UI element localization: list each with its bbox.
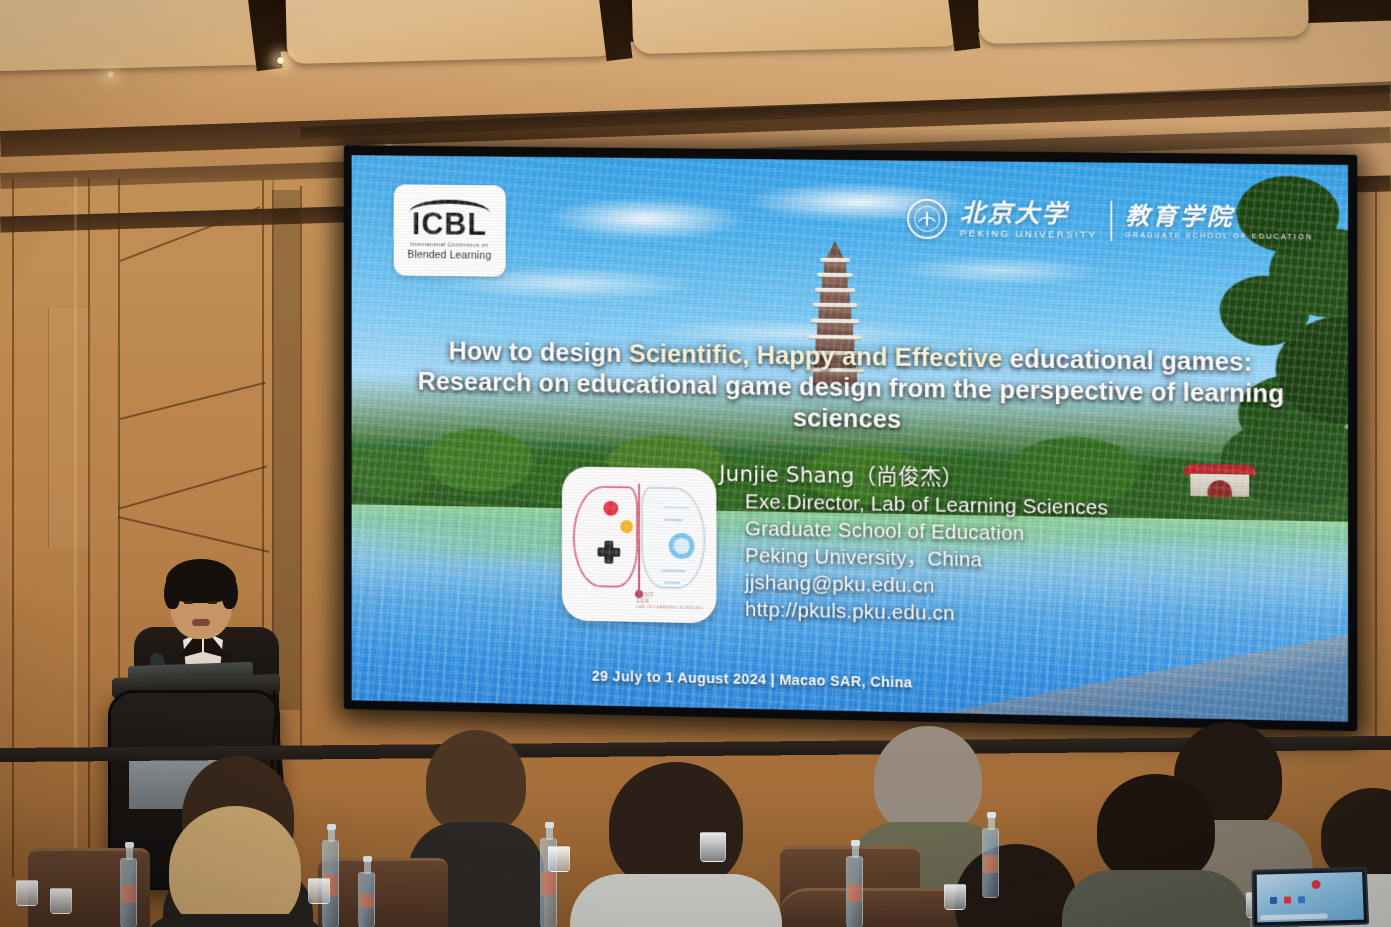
drinking-glass [50,888,72,914]
icbl-acronym: ICBL [412,208,487,240]
audience-person [1086,774,1226,927]
gse-wordmark: 教育学院 GRADUATE SCHOOL OF EDUCATION [1125,204,1313,241]
ceiling-light-icon [276,56,285,65]
red-pavilion [1184,463,1257,498]
audience-person [160,806,310,927]
audience-laptop [1252,867,1369,927]
icbl-subtitle-top: International Conference on [410,242,489,249]
brain-divider-icon [638,483,640,594]
water-bottle [120,858,137,927]
brain-left-half-icon [573,485,638,587]
peking-university-logo-block: 北京大学 PEKING UNIVERSITY 教育学院 GRADUATE SCH… [907,186,1314,257]
pku-wordmark: 北京大学 PEKING UNIVERSITY [960,200,1097,241]
presenter-info-block: Junjie Shang（尚俊杰） Exe.Director, Lab of L… [731,461,1108,630]
speaker-mouth [192,619,210,626]
gse-name-cn: 教育学院 [1125,204,1313,230]
pku-name-en: PEKING UNIVERSITY [960,228,1097,241]
drinking-glass [548,846,570,872]
pku-name-cn: 北京大学 [960,200,1097,227]
drinking-glass [944,884,966,910]
presentation-screen: ICBL International Conference on Blended… [344,145,1357,731]
drinking-glass [16,880,38,906]
water-bottle [982,828,999,898]
dpad-gamepad-icon [598,541,621,564]
water-bottle [358,872,375,927]
icbl-subtitle-bottom: Blended Learning [407,249,491,262]
water-bottle [846,856,863,927]
gse-name-en: GRADUATE SCHOOL OF EDUCATION [1125,232,1313,241]
audience-person [600,762,752,927]
pku-seal-icon [907,199,947,240]
drinking-glass [308,878,330,904]
conference-hall-photo: ICBL International Conference on Blended… [0,0,1391,927]
gear-teeth-icon [669,533,695,559]
lab-logo-caption: 学习科学 实验室 LAB OF LEARNING SCIENCES [636,592,703,612]
ceiling-light-icon [106,70,115,79]
speaker-hair-right [222,575,238,609]
slide-content: ICBL International Conference on Blended… [352,155,1348,722]
learning-sciences-lab-logo: 学习科学 实验室 LAB OF LEARNING SCIENCES [562,467,716,623]
icbl-logo: ICBL International Conference on Blended… [394,184,506,277]
logo-divider [1110,201,1112,241]
drinking-glass [700,832,726,862]
speaker-hair-left [164,575,180,609]
slide-title: How to design Scientific, Happy and Effe… [391,336,1313,443]
